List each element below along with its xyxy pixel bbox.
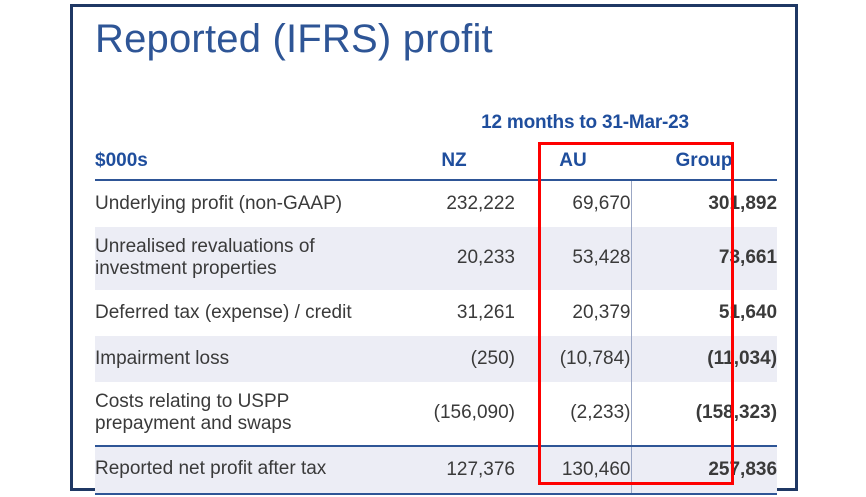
cell-group: 51,640 bbox=[631, 290, 777, 336]
cell-group: 73,661 bbox=[631, 227, 777, 290]
cell-au: 69,670 bbox=[515, 180, 631, 227]
cell-nz: 127,376 bbox=[393, 446, 515, 494]
column-header-group: Group bbox=[631, 138, 777, 180]
row-label-line2: prepayment and swaps bbox=[95, 413, 393, 435]
cell-group: (158,323) bbox=[631, 382, 777, 446]
cell-au: (2,233) bbox=[515, 382, 631, 446]
table-head: 12 months to 31-Mar-23 $000s NZ AU Group bbox=[95, 111, 777, 180]
financial-table-container: 12 months to 31-Mar-23 $000s NZ AU Group… bbox=[95, 111, 777, 495]
column-header-au: AU bbox=[515, 138, 631, 180]
page-title: Reported (IFRS) profit bbox=[95, 17, 493, 62]
table-row: Deferred tax (expense) / credit31,26120,… bbox=[95, 290, 777, 336]
row-label: Deferred tax (expense) / credit bbox=[95, 290, 393, 336]
cell-au: (10,784) bbox=[515, 336, 631, 382]
table-row: Reported net profit after tax127,376130,… bbox=[95, 446, 777, 494]
table-row: Unrealised revaluations ofinvestment pro… bbox=[95, 227, 777, 290]
cell-au: 53,428 bbox=[515, 227, 631, 290]
period-header-label: 12 months to 31-Mar-23 bbox=[393, 111, 777, 138]
slide-frame: Reported (IFRS) profit 12 months to 31-M… bbox=[70, 4, 798, 491]
row-label: Impairment loss bbox=[95, 336, 393, 382]
row-label: Costs relating to USPPprepayment and swa… bbox=[95, 382, 393, 446]
cell-nz: 31,261 bbox=[393, 290, 515, 336]
row-label: Unrealised revaluations ofinvestment pro… bbox=[95, 227, 393, 290]
cell-nz: 20,233 bbox=[393, 227, 515, 290]
table-row: Underlying profit (non-GAAP)232,22269,67… bbox=[95, 180, 777, 227]
cell-nz: (156,090) bbox=[393, 382, 515, 446]
cell-nz: (250) bbox=[393, 336, 515, 382]
table-row: Costs relating to USPPprepayment and swa… bbox=[95, 382, 777, 446]
cell-group: 301,892 bbox=[631, 180, 777, 227]
table-row: Impairment loss(250)(10,784)(11,034) bbox=[95, 336, 777, 382]
cell-nz: 232,222 bbox=[393, 180, 515, 227]
period-header-row: 12 months to 31-Mar-23 bbox=[95, 111, 777, 138]
row-label-line2: investment properties bbox=[95, 258, 393, 280]
table-body: Underlying profit (non-GAAP)232,22269,67… bbox=[95, 180, 777, 494]
row-label: Reported net profit after tax bbox=[95, 446, 393, 494]
financial-table: 12 months to 31-Mar-23 $000s NZ AU Group… bbox=[95, 111, 777, 495]
row-label: Underlying profit (non-GAAP) bbox=[95, 180, 393, 227]
column-header-nz: NZ bbox=[393, 138, 515, 180]
column-header-row: $000s NZ AU Group bbox=[95, 138, 777, 180]
period-spacer bbox=[95, 111, 393, 138]
column-header-units: $000s bbox=[95, 138, 393, 180]
cell-group: (11,034) bbox=[631, 336, 777, 382]
cell-au: 130,460 bbox=[515, 446, 631, 494]
cell-group: 257,836 bbox=[631, 446, 777, 494]
cell-au: 20,379 bbox=[515, 290, 631, 336]
